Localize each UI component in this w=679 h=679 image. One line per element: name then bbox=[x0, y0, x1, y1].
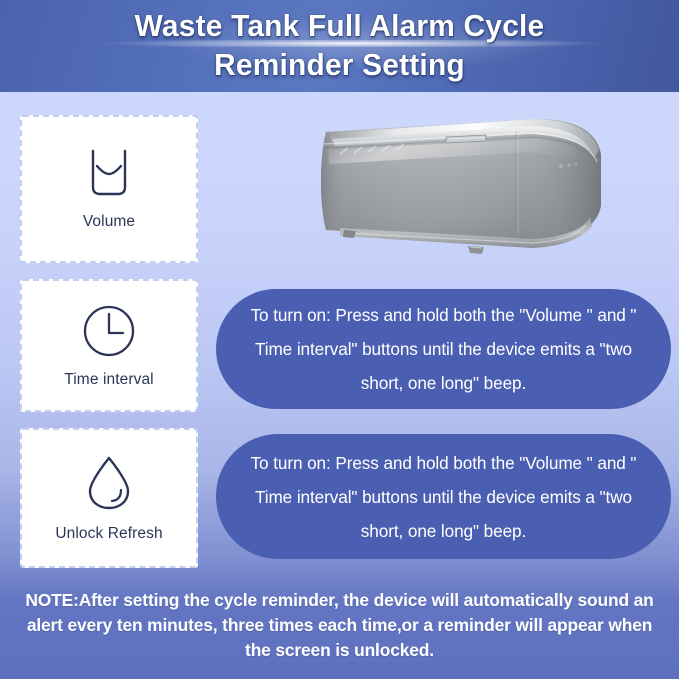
page-title: Waste Tank Full Alarm Cycle Reminder Set… bbox=[12, 0, 667, 84]
infographic-page: Waste Tank Full Alarm Cycle Reminder Set… bbox=[0, 0, 679, 679]
beaker-volume-icon bbox=[80, 147, 138, 199]
card-volume[interactable]: Volume bbox=[20, 115, 198, 263]
page-header: Waste Tank Full Alarm Cycle Reminder Set… bbox=[0, 0, 679, 92]
instruction-text-2: To turn on: Press and hold both the "Vol… bbox=[246, 446, 641, 548]
card-label-unlock-refresh: Unlock Refresh bbox=[55, 525, 162, 543]
waste-tank-product-image bbox=[318, 106, 618, 258]
card-label-time-interval: Time interval bbox=[64, 371, 153, 389]
clock-icon bbox=[81, 303, 137, 359]
instruction-pill-turn-on-1: To turn on: Press and hold both the "Vol… bbox=[216, 289, 671, 409]
note-text: NOTE:After setting the cycle reminder, t… bbox=[22, 588, 657, 663]
card-label-volume: Volume bbox=[83, 213, 135, 231]
card-time-interval[interactable]: Time interval bbox=[20, 279, 198, 412]
instruction-pill-turn-on-2: To turn on: Press and hold both the "Vol… bbox=[216, 434, 671, 559]
water-droplet-icon bbox=[82, 454, 136, 512]
card-unlock-refresh[interactable]: Unlock Refresh bbox=[20, 428, 198, 568]
instruction-text-1: To turn on: Press and hold both the "Vol… bbox=[246, 298, 641, 400]
